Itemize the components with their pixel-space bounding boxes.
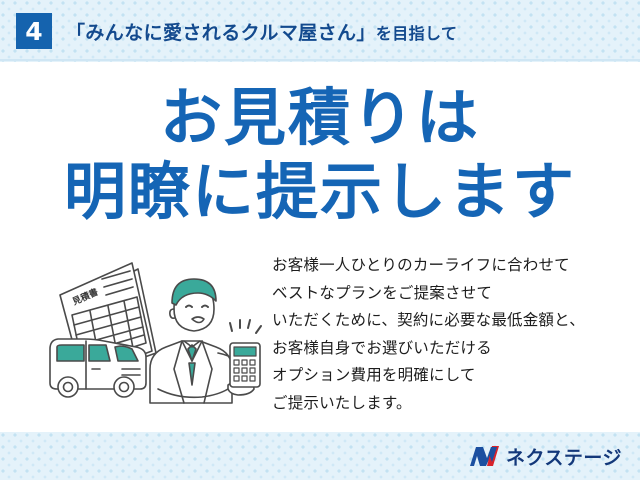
body-copy-line-6: ご提示いたします。 bbox=[272, 390, 622, 418]
section-number-badge: 4 bbox=[16, 13, 52, 49]
calculator-illustration bbox=[230, 343, 260, 387]
body-copy-line-5: オプション費用を明確にして bbox=[272, 362, 622, 390]
brand-logo: ネクステージ bbox=[470, 443, 622, 470]
illustration-salesman-estimate: 見積書 bbox=[32, 257, 272, 422]
content-panel: お見積りは 明瞭に提示します お客様一人ひとりのカーライフに合わせて ベストなプ… bbox=[0, 62, 640, 432]
body-copy-line-1: お客様一人ひとりのカーライフに合わせて bbox=[272, 252, 622, 280]
sparkle-icon bbox=[230, 320, 261, 333]
header-title-main: 「みんなに愛されるクルマ屋さん」 bbox=[66, 23, 376, 44]
headline-line-2: 明瞭に提示します bbox=[0, 162, 640, 224]
body-copy-line-2: ベストなプランをご提案させて bbox=[272, 280, 622, 308]
header-bar: 4 「みんなに愛されるクルマ屋さん」を目指して bbox=[0, 0, 640, 62]
header-title: 「みんなに愛されるクルマ屋さん」を目指して bbox=[66, 18, 457, 45]
van-illustration bbox=[50, 339, 146, 397]
header-divider bbox=[0, 59, 640, 61]
brand-name: ネクステージ bbox=[506, 443, 622, 470]
body-copy-line-4: お客様自身でお選びいただける bbox=[272, 335, 622, 363]
footer-bar: ネクステージ bbox=[0, 432, 640, 480]
nexstage-n-icon bbox=[470, 446, 500, 467]
headline-line-1: お見積りは bbox=[0, 88, 640, 150]
body-copy: お客様一人ひとりのカーライフに合わせて ベストなプランをご提案させて いただくた… bbox=[272, 252, 622, 417]
header-title-suffix: を目指して bbox=[376, 26, 458, 43]
body-copy-line-3: いただくために、契約に必要な最低金額と、 bbox=[272, 307, 622, 335]
